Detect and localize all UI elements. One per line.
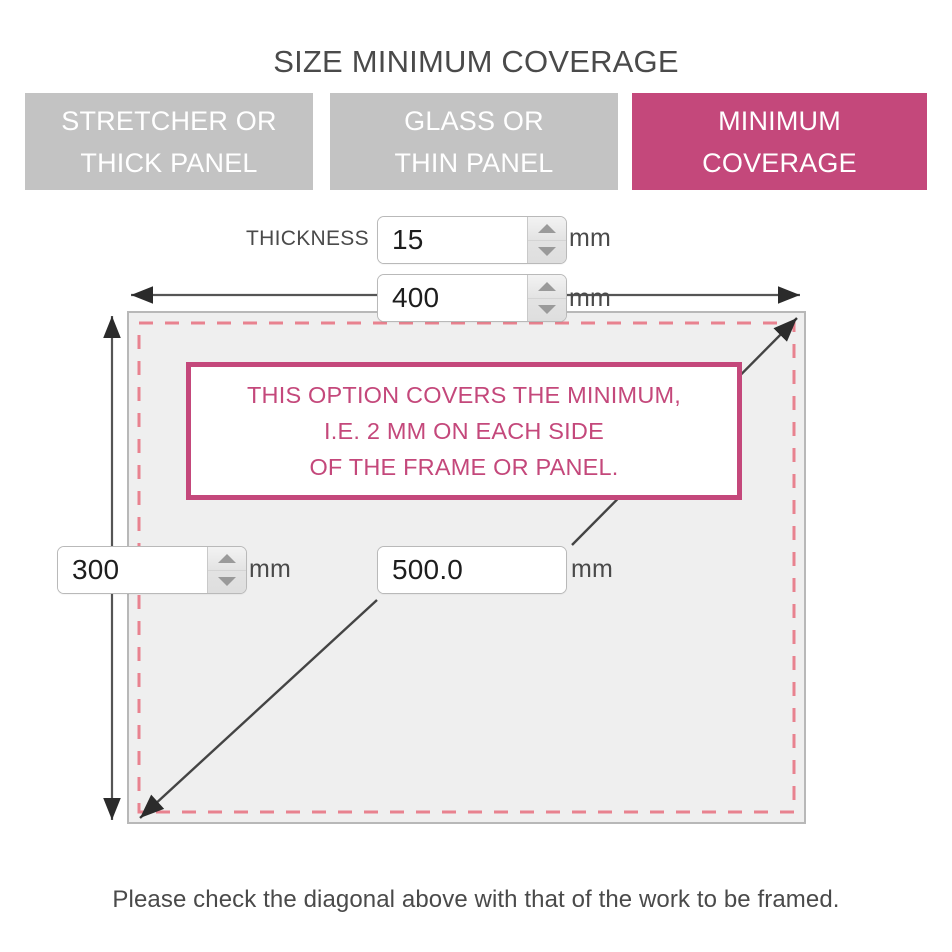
height-unit-label: mm [249, 555, 291, 584]
tab-label-line2: THICK PANEL [80, 142, 257, 184]
height-increment-button[interactable] [208, 547, 246, 571]
thickness-increment-button[interactable] [528, 217, 566, 241]
chevron-down-icon [538, 305, 556, 314]
height-input[interactable]: 300 [57, 546, 247, 594]
chevron-up-icon [538, 282, 556, 291]
thickness-spinner[interactable] [527, 217, 566, 263]
thickness-value[interactable]: 15 [378, 217, 527, 263]
height-decrement-button[interactable] [208, 571, 246, 594]
minimum-coverage-callout: THIS OPTION COVERS THE MINIMUM, I.E. 2 M… [186, 362, 742, 500]
chevron-down-icon [538, 247, 556, 256]
tab-minimum-coverage[interactable]: MINIMUM COVERAGE [632, 93, 927, 190]
tab-label-line2: THIN PANEL [394, 142, 553, 184]
tab-label-line1: MINIMUM [718, 100, 841, 142]
thickness-label: THICKNESS [246, 227, 369, 251]
thickness-unit-label: mm [569, 224, 611, 253]
width-value[interactable]: 400 [378, 275, 527, 321]
footer-note: Please check the diagonal above with tha… [0, 886, 952, 914]
tab-stretcher-or-thick-panel[interactable]: STRETCHER OR THICK PANEL [25, 93, 313, 190]
tab-glass-or-thin-panel[interactable]: GLASS OR THIN PANEL [330, 93, 618, 190]
callout-line-2: I.E. 2 MM ON EACH SIDE [324, 413, 604, 449]
thickness-input[interactable]: 15 [377, 216, 567, 264]
diagonal-output: 500.0 [377, 546, 567, 594]
width-unit-label: mm [569, 284, 611, 313]
width-increment-button[interactable] [528, 275, 566, 299]
callout-line-1: THIS OPTION COVERS THE MINIMUM, [247, 377, 681, 413]
height-value[interactable]: 300 [58, 547, 207, 593]
tab-label-line1: STRETCHER OR [61, 100, 276, 142]
page-title: SIZE MINIMUM COVERAGE [0, 44, 952, 80]
chevron-down-icon [218, 577, 236, 586]
chevron-up-icon [218, 554, 236, 563]
chevron-up-icon [538, 224, 556, 233]
size-minimum-coverage-screen: SIZE MINIMUM COVERAGE STRETCHER OR THICK… [0, 0, 952, 952]
tab-bar: STRETCHER OR THICK PANEL GLASS OR THIN P… [25, 93, 927, 190]
diagonal-arrow-lower [140, 600, 377, 818]
tab-label-line2: COVERAGE [702, 142, 857, 184]
width-spinner[interactable] [527, 275, 566, 321]
diagonal-value: 500.0 [378, 547, 566, 593]
callout-line-3: OF THE FRAME OR PANEL. [309, 449, 618, 485]
height-spinner[interactable] [207, 547, 246, 593]
width-decrement-button[interactable] [528, 299, 566, 322]
width-input[interactable]: 400 [377, 274, 567, 322]
diagonal-unit-label: mm [571, 555, 613, 584]
tab-label-line1: GLASS OR [404, 100, 544, 142]
thickness-decrement-button[interactable] [528, 241, 566, 264]
